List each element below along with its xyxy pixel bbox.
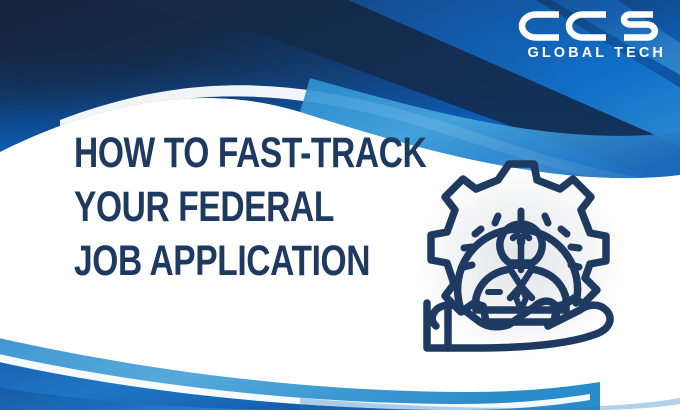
- logo-tagline: GLOBAL TECH: [498, 46, 666, 61]
- suit-tie: [516, 286, 526, 310]
- logo[interactable]: GLOBAL TECH: [498, 8, 668, 61]
- banner: GLOBAL TECH HOW TO FAST-TRACK YOUR FEDER…: [0, 0, 680, 410]
- headline-line-1: HOW TO FAST-TRACK: [74, 126, 426, 180]
- headline-line-3: JOB APPLICATION: [74, 234, 426, 288]
- headline: HOW TO FAST-TRACK YOUR FEDERAL JOB APPLI…: [74, 126, 526, 288]
- logo-wordmark-ccs-icon: [518, 8, 668, 44]
- headline-line-2: YOUR FEDERAL: [74, 180, 426, 234]
